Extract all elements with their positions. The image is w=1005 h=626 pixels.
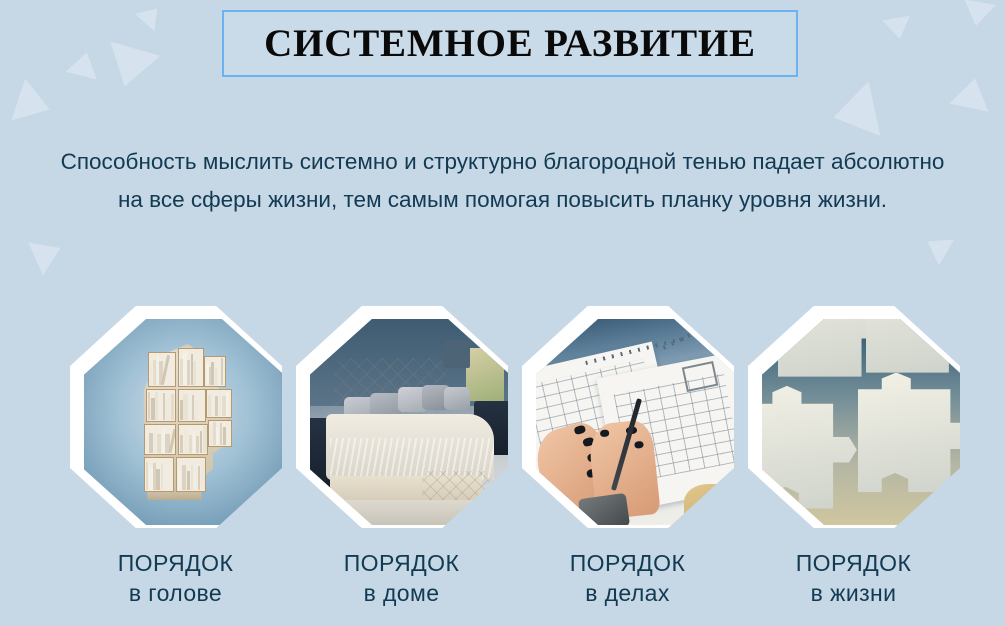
book-icon xyxy=(183,353,187,385)
book-icon xyxy=(153,360,156,385)
octagon-frame xyxy=(296,306,508,528)
book-icon xyxy=(158,398,162,420)
caption-order-in-tasks: ПОРЯДОК в делах xyxy=(514,548,741,608)
book-icon xyxy=(221,358,223,385)
book-icon xyxy=(198,466,201,490)
caption-order-in-home: ПОРЯДОК в доме xyxy=(288,548,515,608)
caption-line-1: ПОРЯДОК xyxy=(62,548,289,578)
page-title: СИСТЕМНОЕ РАЗВИТИЕ xyxy=(264,21,756,66)
card-order-in-home[interactable] xyxy=(288,302,515,532)
bookshelf-cell xyxy=(178,424,208,455)
bookshelf-cell xyxy=(208,420,232,447)
book-icon xyxy=(171,394,174,420)
bookshelf-cell xyxy=(176,457,206,492)
decor-triangle-icon xyxy=(66,48,103,79)
caption-line-2: в делах xyxy=(514,578,741,608)
octagon-image-clip xyxy=(762,319,962,525)
decor-triangle-icon xyxy=(100,42,161,94)
caption-line-2: в голове xyxy=(62,578,289,608)
decor-triangle-icon xyxy=(949,74,994,112)
book-icon xyxy=(149,468,153,490)
decor-triangle-icon xyxy=(882,16,913,42)
book-icon xyxy=(178,470,181,490)
octagon-image-clip xyxy=(310,319,510,525)
card-order-in-head[interactable] xyxy=(62,302,289,532)
book-icon xyxy=(183,394,187,420)
decor-triangle-icon xyxy=(28,232,67,276)
book-icon xyxy=(150,366,152,385)
book-icon xyxy=(156,469,160,490)
octagon-frame xyxy=(70,306,282,528)
book-icon xyxy=(191,465,193,490)
book-icon xyxy=(194,460,198,490)
bookshelf-cell xyxy=(146,389,176,422)
bedroom-lamp-icon xyxy=(444,340,470,369)
book-icon xyxy=(187,471,190,490)
caption-line-2: в жизни xyxy=(740,578,967,608)
page-title-box: СИСТЕМНОЕ РАЗВИТИЕ xyxy=(222,10,798,77)
bookshelf-cell xyxy=(148,352,176,387)
bedroom-interior-image xyxy=(310,319,510,525)
book-icon xyxy=(212,400,214,416)
book-icon xyxy=(208,395,211,416)
intro-paragraph: Способность мыслить системно и структурн… xyxy=(50,143,955,219)
book-icon xyxy=(219,391,222,416)
book-icon xyxy=(203,426,207,453)
book-icon xyxy=(151,398,155,420)
card-order-in-life[interactable] xyxy=(740,302,967,532)
book-icon xyxy=(194,401,197,420)
caption-line-2: в доме xyxy=(288,578,515,608)
book-icon xyxy=(220,423,222,445)
caption-line-1: ПОРЯДОК xyxy=(288,548,515,578)
planner-hands-image xyxy=(536,319,736,525)
book-icon xyxy=(193,430,195,453)
book-icon xyxy=(215,396,219,416)
book-icon xyxy=(193,361,196,385)
bookshelf-cell xyxy=(204,356,226,387)
card-order-in-tasks[interactable] xyxy=(514,302,741,532)
book-icon xyxy=(149,433,153,453)
book-icon xyxy=(187,360,190,385)
pillow-5 xyxy=(444,387,470,410)
card-captions: ПОРЯДОК в голове ПОРЯДОК в доме ПОРЯДОК … xyxy=(0,548,1005,626)
caption-order-in-life: ПОРЯДОК в жизни xyxy=(740,548,967,608)
bookshelf-cell xyxy=(144,457,174,492)
book-icon xyxy=(162,469,170,490)
book-icon xyxy=(154,428,157,453)
bookshelf-cell xyxy=(178,389,206,422)
decor-triangle-icon xyxy=(960,0,996,29)
bookshelf-head-image xyxy=(84,319,284,525)
bench-leg-right xyxy=(486,500,489,523)
ruler-icon xyxy=(663,319,726,350)
book-icon xyxy=(216,427,219,445)
book-icon xyxy=(162,429,165,453)
book-icon xyxy=(188,400,191,420)
decor-triangle-icon xyxy=(135,0,167,31)
octagon-image-clip xyxy=(536,319,736,525)
book-icon xyxy=(157,434,161,453)
bedroom-window xyxy=(466,348,504,402)
puzzle-pieces-image xyxy=(762,319,962,525)
book-icon xyxy=(226,392,229,416)
book-icon xyxy=(211,362,214,385)
bookshelf-cell xyxy=(144,424,176,455)
octagon-frame xyxy=(522,306,734,528)
octagon-image-clip xyxy=(84,319,284,525)
book-icon xyxy=(180,435,183,453)
book-icon xyxy=(166,399,170,420)
desk-accessory xyxy=(684,484,736,525)
bedroom-rug xyxy=(310,500,510,525)
decor-triangle-icon xyxy=(828,81,881,145)
book-icon xyxy=(184,430,188,453)
caption-line-1: ПОРЯДОК xyxy=(514,548,741,578)
octagon-frame xyxy=(748,306,960,528)
book-icon xyxy=(197,355,199,385)
book-icon xyxy=(222,396,226,416)
book-icon xyxy=(200,431,203,453)
puzzle-piece-top-right xyxy=(866,319,962,373)
book-icon xyxy=(201,460,205,490)
bookshelf-cell xyxy=(178,348,204,387)
decor-triangle-icon xyxy=(12,78,57,130)
caption-order-in-head: ПОРЯДОК в голове xyxy=(62,548,289,608)
decor-triangle-icon xyxy=(920,229,954,266)
puzzle-piece-bottom-right xyxy=(858,373,962,492)
sleeve-cuff xyxy=(578,493,630,525)
book-icon xyxy=(223,427,227,444)
cards-row xyxy=(0,302,1005,532)
caption-line-1: ПОРЯДОК xyxy=(740,548,967,578)
book-icon xyxy=(196,436,200,453)
bookshelf-cell xyxy=(206,389,232,418)
book-icon xyxy=(189,435,192,453)
book-icon xyxy=(182,465,186,490)
